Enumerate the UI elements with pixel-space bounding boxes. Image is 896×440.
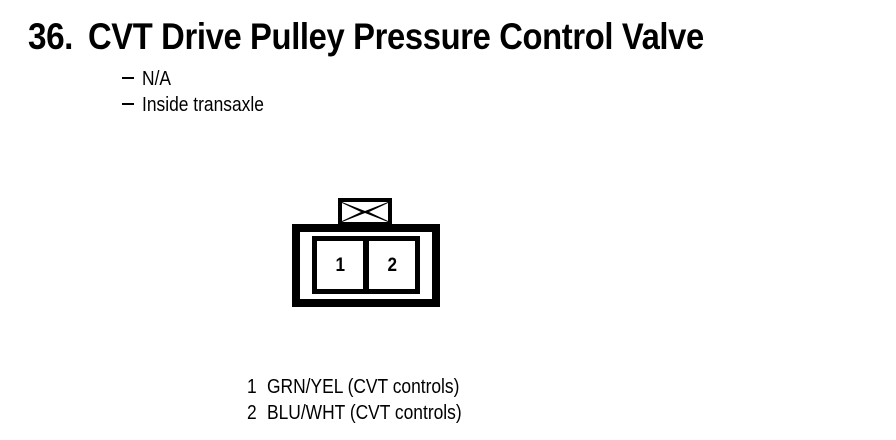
section-title: CVT Drive Pulley Pressure Control Valve [88, 16, 704, 58]
legend-pin-label: GRN/YEL (CVT controls) [267, 376, 459, 399]
legend-row: 2 BLU/WHT (CVT controls) [247, 402, 667, 428]
pin-cell-1: 1 [312, 236, 366, 294]
note-item: Inside transaxle [122, 94, 522, 120]
dash-bullet-icon [122, 77, 134, 79]
pin-legend: 1 GRN/YEL (CVT controls) 2 BLU/WHT (CVT … [247, 376, 667, 428]
legend-pin-number: 2 [247, 402, 264, 425]
page-title: 36. CVT Drive Pulley Pressure Control Va… [28, 16, 888, 62]
legend-row: 1 GRN/YEL (CVT controls) [247, 376, 667, 402]
note-item: N/A [122, 68, 522, 94]
pin-number: 1 [335, 256, 345, 275]
pin-cell-2: 2 [366, 236, 420, 294]
bowtie-latch-icon [338, 198, 392, 226]
notes-list: N/A Inside transaxle [122, 68, 522, 120]
legend-pin-number: 1 [247, 376, 264, 399]
note-text: Inside transaxle [142, 94, 264, 117]
connector-diagram: 1 2 [292, 198, 442, 308]
dash-bullet-icon [122, 103, 134, 105]
legend-pin-label: BLU/WHT (CVT controls) [267, 402, 462, 425]
note-text: N/A [142, 68, 171, 91]
pin-cells: 1 2 [312, 236, 420, 294]
section-number: 36. [28, 16, 73, 58]
pin-number: 2 [387, 256, 397, 275]
